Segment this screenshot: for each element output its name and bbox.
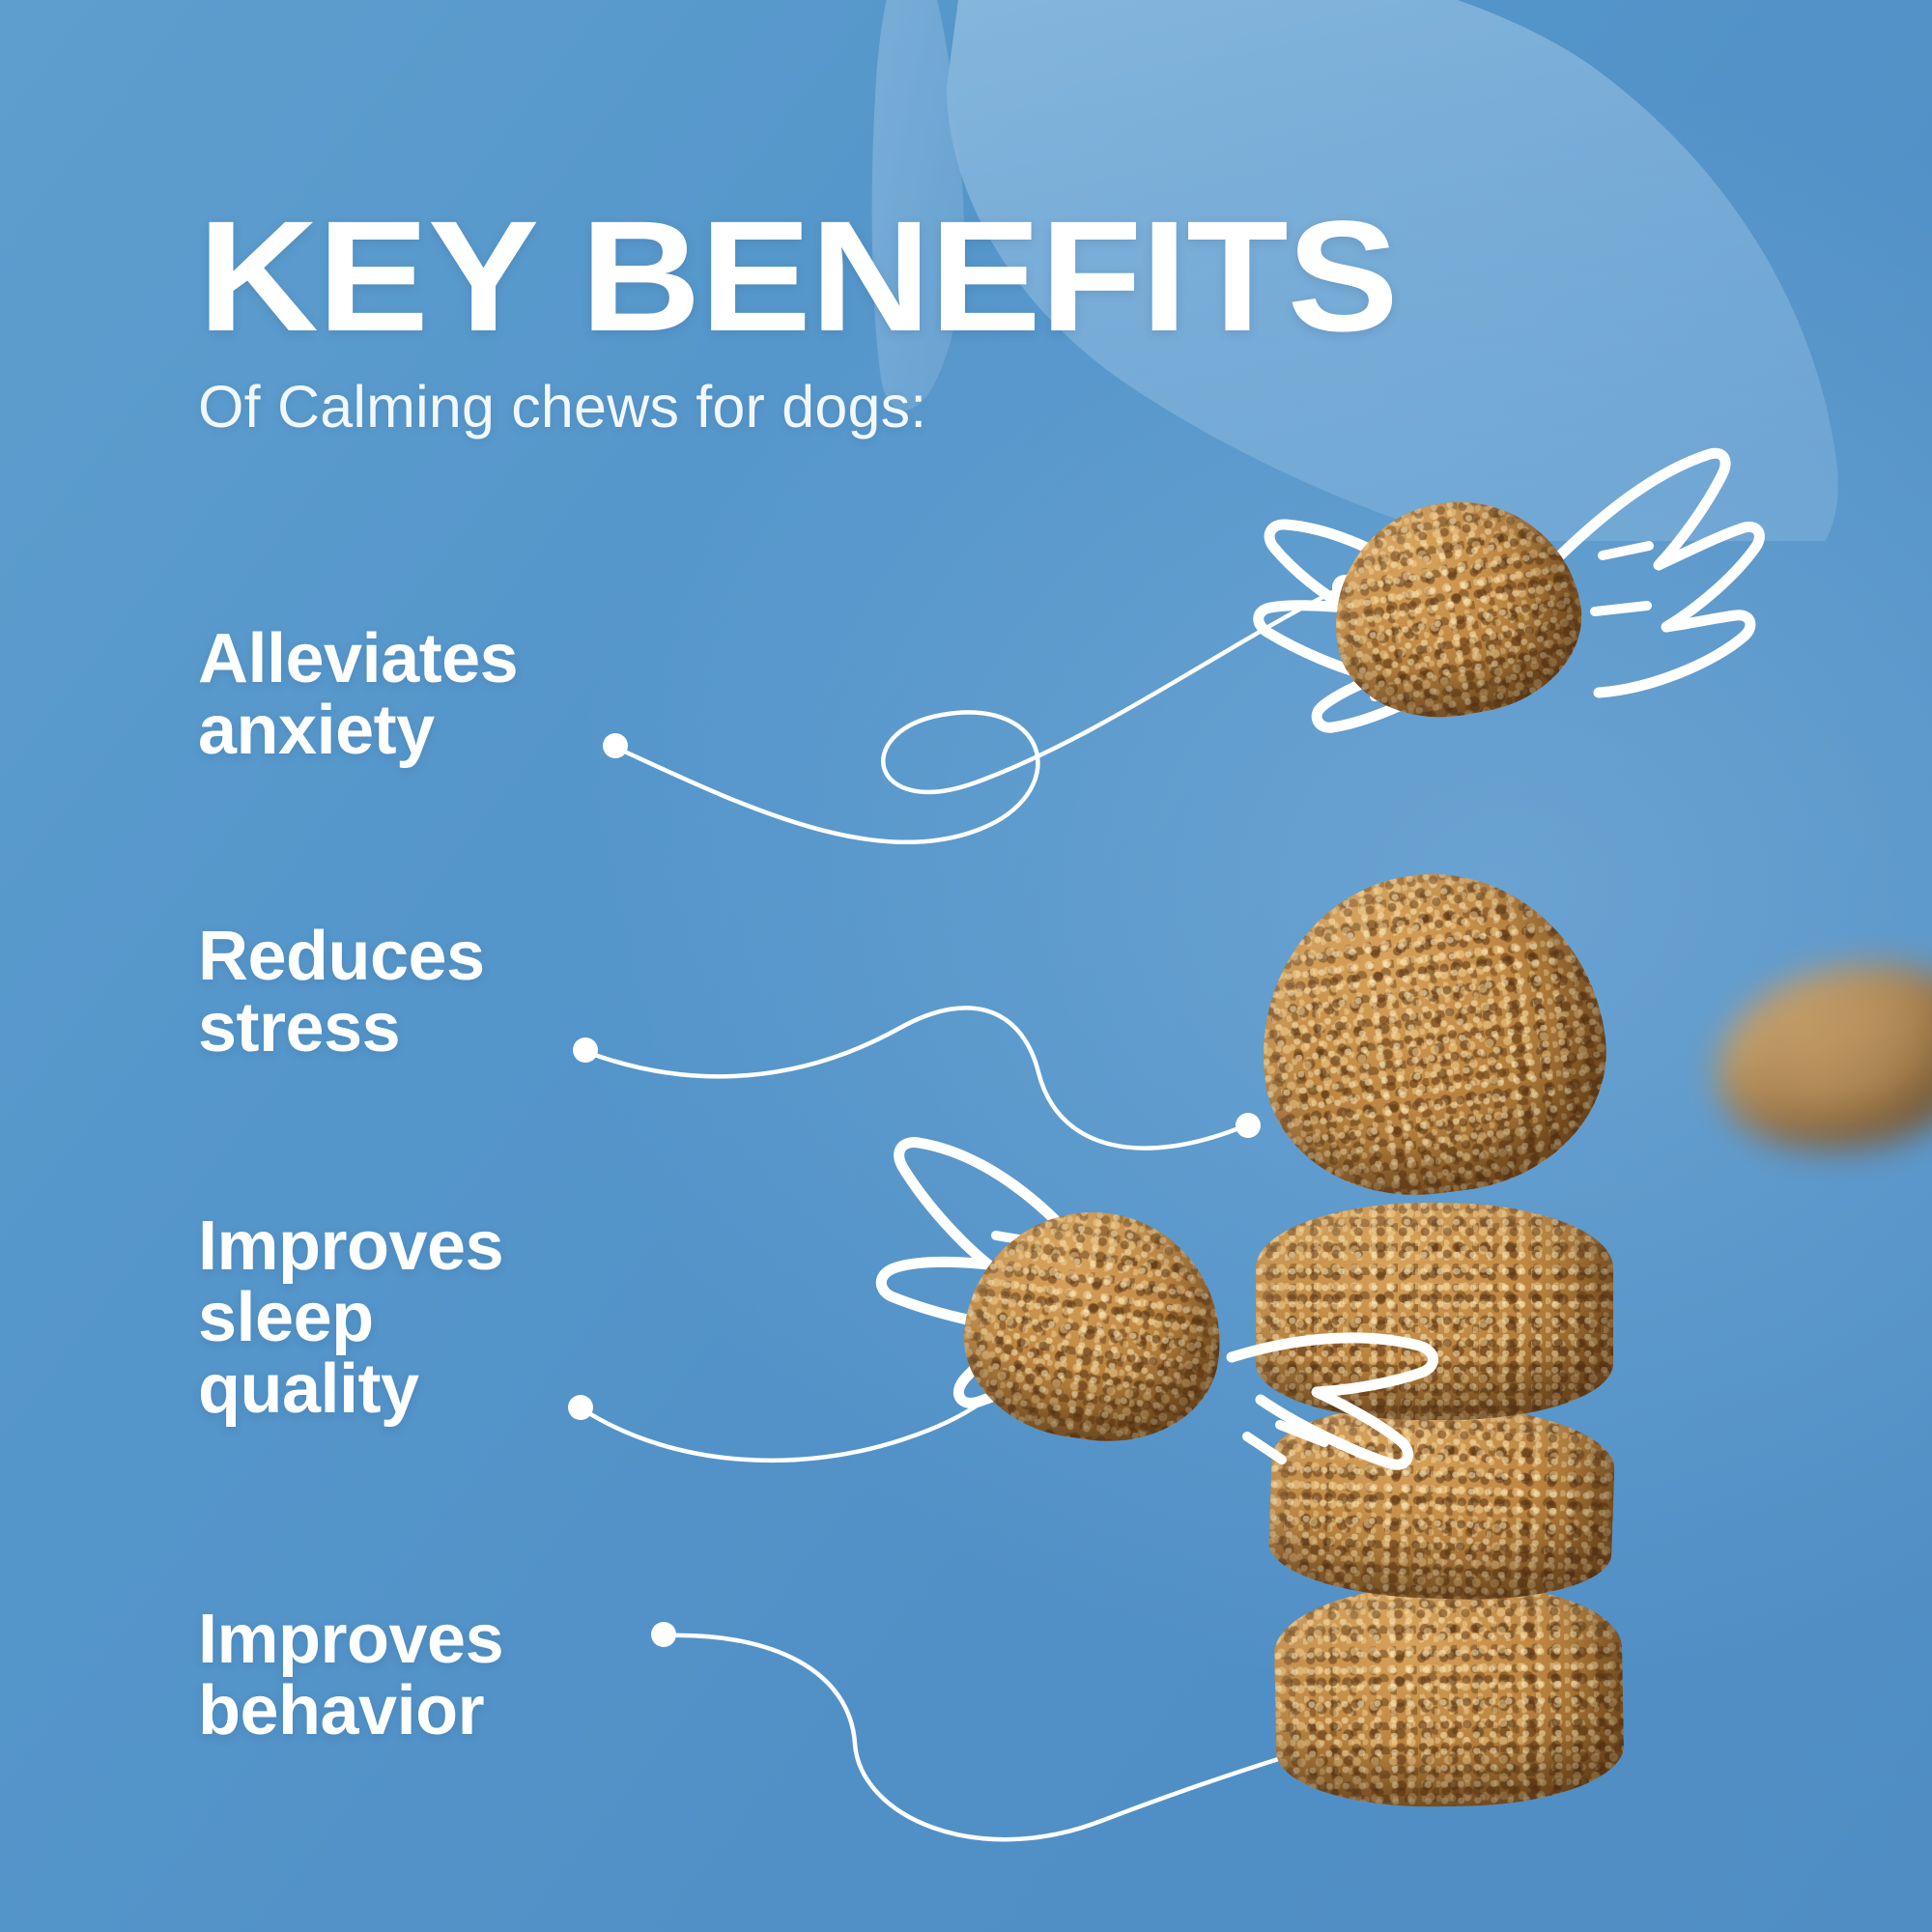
connector-dot-anxiety	[603, 733, 628, 758]
connector-dot-stress-target	[1236, 1113, 1261, 1138]
chew-stack-piece-2	[1256, 1203, 1613, 1420]
benefit-item-sleep: Improves sleep quality	[198, 1210, 503, 1425]
chew-stack-piece-1	[1242, 855, 1622, 1213]
benefit-item-anxiety: Alleviates anxiety	[198, 623, 518, 766]
connector-dot-behavior	[651, 1622, 676, 1647]
chew-stack-piece-4	[1273, 1581, 1625, 1809]
headline-block: KEY BENEFITS Of Calming chews for dogs:	[198, 203, 1599, 440]
page-subtitle: Of Calming chews for dogs:	[198, 373, 1599, 440]
chew-flying-middle	[952, 1196, 1236, 1457]
page-title: KEY BENEFITS	[198, 203, 1683, 350]
chew-stack-piece-3	[1267, 1400, 1617, 1605]
benefit-item-stress: Reduces stress	[198, 921, 485, 1064]
connector-dot-sleep	[568, 1395, 593, 1420]
benefit-item-behavior: Improves behavior	[198, 1604, 503, 1747]
chew-blurred-background	[1696, 936, 1932, 1179]
connector-dot-stress	[573, 1037, 598, 1063]
chew-flying-top	[1317, 483, 1596, 735]
poster-canvas: KEY BENEFITS Of Calming chews for dogs: …	[0, 0, 1932, 1932]
